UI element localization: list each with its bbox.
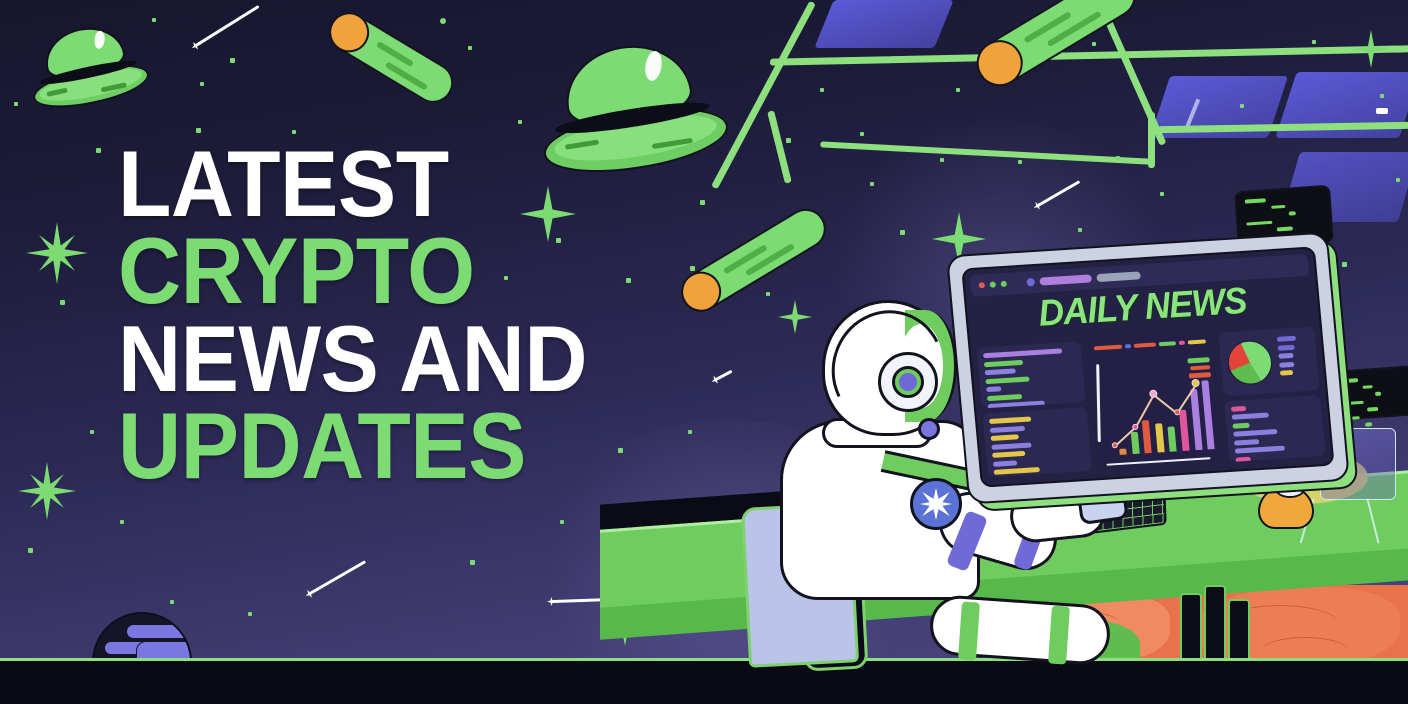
astronaut-earpiece-core: [899, 373, 917, 391]
placeholder-line: [1278, 353, 1293, 359]
traffic-light-green-2[interactable]: [1001, 281, 1008, 287]
star-dot: [248, 612, 252, 616]
chart-bar: [1168, 426, 1177, 452]
page-title: LATEST CRYPTO NEWS AND UPDATES: [118, 140, 622, 490]
headline-line-3: NEWS AND: [118, 315, 587, 402]
window-frame-lower-left: [767, 110, 792, 183]
star-dot: [170, 600, 174, 604]
terminal-code-line: [1246, 220, 1272, 225]
star-8-point-icon: [18, 462, 76, 520]
placeholder-line: [1234, 439, 1260, 446]
traffic-light-green-1[interactable]: [990, 281, 997, 287]
placeholder-line: [988, 401, 1045, 409]
star-dot: [230, 58, 235, 63]
green-tanks: [1180, 585, 1258, 665]
star-dot: [690, 266, 695, 271]
chart-header-pill: [1134, 342, 1156, 347]
browser-tab-indicator[interactable]: [1026, 278, 1035, 286]
chart-data-point: [1112, 442, 1119, 448]
star-dot: [1092, 42, 1096, 46]
placeholder-line: [994, 476, 1031, 477]
chart-header-pill: [1094, 345, 1122, 351]
astronaut-neck-joint: [918, 418, 940, 440]
placeholder-line: [987, 393, 1022, 400]
star-8-point-icon: [26, 222, 88, 284]
placeholder-line: [992, 451, 1026, 458]
star-dot: [1078, 228, 1082, 232]
star-dot: [1160, 192, 1164, 196]
chart-bar: [1179, 410, 1190, 451]
star-dot: [1116, 156, 1120, 160]
star-dot: [60, 300, 65, 305]
placeholder-line: [986, 386, 1001, 392]
panel-chart[interactable]: [1085, 333, 1225, 471]
placeholder-line: [1279, 361, 1294, 367]
placeholder-line: [1232, 423, 1249, 429]
star-dot: [14, 102, 18, 106]
monitor[interactable]: DAILY NEWS: [946, 232, 1350, 505]
placeholder-line: [1233, 429, 1277, 437]
star-dot: [200, 82, 204, 86]
placeholder-line: [1277, 336, 1296, 342]
terminal-code-line: [1277, 226, 1292, 231]
terminal-code-line: [1245, 198, 1266, 203]
placeholder-line: [994, 467, 1040, 475]
panel-left-bottom[interactable]: [982, 407, 1092, 477]
star-dot: [786, 138, 791, 143]
monitor-screen[interactable]: DAILY NEWS: [961, 246, 1334, 487]
pie-chart: [1226, 339, 1274, 386]
window-frame-diagonal-left: [711, 1, 816, 190]
star-dot: [688, 430, 692, 434]
star-dot: [1312, 40, 1316, 44]
chart-header-pill: [1187, 339, 1206, 344]
terminal-code-line: [1375, 392, 1381, 396]
placeholder-line: [1235, 446, 1286, 454]
panel-left-top[interactable]: [976, 341, 1085, 409]
window-pane-indicator: [1376, 108, 1388, 114]
astronaut-leg: [928, 594, 1112, 666]
chart-header-pill: [1124, 344, 1131, 348]
star-dot: [870, 182, 874, 186]
browser-url-pill[interactable]: [1039, 274, 1092, 285]
chart-data-point: [1132, 424, 1139, 430]
star-dot: [120, 520, 124, 524]
chart-bar: [1190, 389, 1202, 450]
star-dot: [1240, 104, 1244, 108]
star-dot: [940, 158, 944, 162]
ufo-glint: [643, 50, 663, 82]
star-dot: [860, 132, 864, 136]
chart-bar: [1142, 420, 1152, 454]
placeholder-line: [1235, 456, 1251, 462]
placeholder-line: [984, 359, 1023, 366]
star-dot: [90, 430, 94, 434]
crypto-news-banner: LATEST CRYPTO NEWS AND UPDATES: [0, 0, 1408, 704]
placeholder-line: [1232, 413, 1269, 420]
panel-right-bottom[interactable]: [1224, 395, 1325, 462]
terminal-code-line: [1367, 407, 1378, 411]
panel-right-top[interactable]: [1218, 327, 1320, 397]
monitor-bezel: DAILY NEWS: [946, 232, 1350, 505]
pie-legend: [1277, 333, 1314, 387]
star-dot: [152, 18, 156, 22]
placeholder-line: [991, 435, 1019, 442]
dashboard-right-column: [1218, 327, 1326, 462]
chart-legend-pill: [1187, 357, 1209, 363]
shooting-star-icon: [715, 370, 732, 381]
chart-bar: [1130, 432, 1139, 454]
chart-data-point: [1173, 409, 1180, 415]
placeholder-line: [985, 376, 1030, 384]
chart-header-pill: [1179, 341, 1185, 345]
star-dot: [956, 88, 960, 92]
star-dot: [470, 560, 475, 565]
placeholder-line: [1280, 370, 1293, 376]
star-dot: [1380, 94, 1384, 98]
dashboard: [976, 327, 1325, 478]
window-frame-horizontal: [770, 45, 1408, 65]
terminal-code-line: [1271, 204, 1285, 208]
chart-header-pill: [1159, 341, 1176, 346]
chart-legend-pill: [1190, 365, 1210, 371]
dashboard-left-column: [976, 341, 1092, 477]
star-dot: [820, 88, 824, 92]
headline-line-1: LATEST: [118, 140, 587, 227]
browser-secondary-pill[interactable]: [1096, 271, 1141, 282]
chart-data-point: [1191, 379, 1200, 387]
placeholder-line: [989, 417, 1032, 425]
ufo-top-left: [21, 17, 153, 118]
star-dot: [900, 230, 905, 235]
terminal-code-line: [1288, 211, 1296, 215]
chart-x-axis: [1106, 457, 1210, 466]
star-dot: [1342, 262, 1347, 267]
star-dot: [468, 46, 472, 50]
star-dot: [766, 292, 770, 296]
placeholder-line: [985, 368, 1017, 375]
traffic-light-red[interactable]: [979, 282, 986, 288]
star-dot: [96, 148, 101, 153]
chart-bar: [1155, 423, 1165, 453]
chart-bar: [1119, 449, 1127, 455]
headline-line-4: UPDATES: [118, 402, 587, 489]
terminal-code-line: [1362, 385, 1372, 389]
star-dot: [1018, 160, 1022, 164]
star-dot: [1396, 178, 1400, 182]
star-dot: [518, 120, 522, 124]
ufo-glint: [94, 31, 106, 50]
placeholder-line: [983, 348, 1062, 358]
floor: [0, 658, 1408, 704]
shooting-star-icon: [309, 560, 366, 595]
chart-header-pills: [1094, 339, 1206, 350]
placeholder-line: [991, 442, 1032, 450]
shooting-star-icon: [195, 5, 259, 47]
star-dot: [440, 18, 446, 24]
chart-bar: [1202, 381, 1215, 450]
headline-line-2: CRYPTO: [118, 227, 587, 314]
star-dot: [700, 200, 705, 205]
star-dot: [560, 520, 564, 524]
star-dot: [626, 278, 631, 283]
window-pane-left: [814, 0, 953, 48]
star-4-point-icon: [1352, 30, 1390, 68]
placeholder-line: [1277, 344, 1294, 350]
placeholder-line: [1231, 406, 1247, 412]
terminal-code-line: [1365, 422, 1373, 426]
placeholder-line: [993, 460, 1017, 466]
chart-legend: [1187, 357, 1211, 378]
placeholder-line: [990, 426, 1025, 433]
star-dot: [28, 548, 33, 553]
